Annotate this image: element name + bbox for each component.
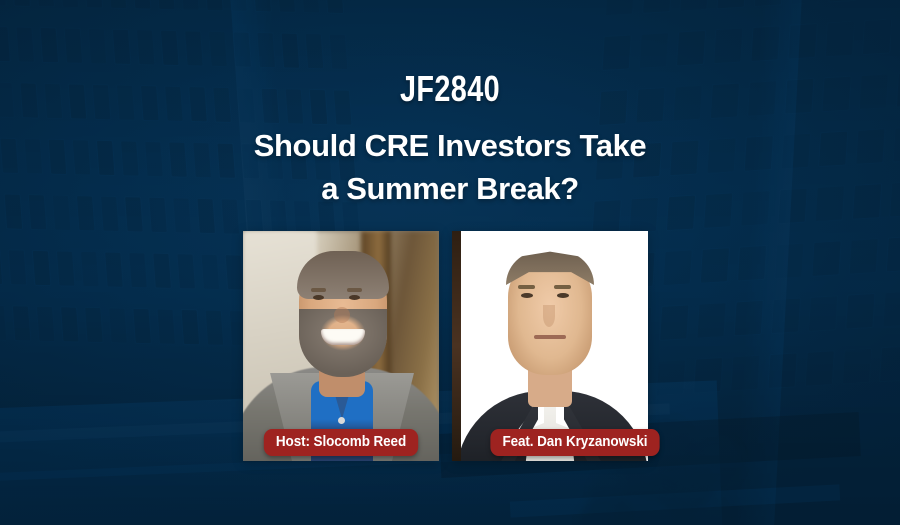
guest-eye-left	[521, 293, 533, 298]
host-name-badge: Host: Slocomb Reed	[264, 429, 418, 456]
host-hair	[297, 251, 389, 299]
host-eye-right	[349, 295, 360, 300]
episode-title-line-2: a Summer Break?	[0, 167, 900, 210]
guest-eye-right	[557, 293, 569, 298]
podcast-episode-cover: JF2840 Should CRE Investors Take a Summe…	[0, 0, 900, 525]
host-nose	[334, 307, 350, 323]
guest-photo-left-edge	[452, 231, 461, 461]
host-smile	[321, 329, 365, 345]
host-eyebrow-left	[311, 288, 326, 292]
host-polo-button	[338, 417, 345, 424]
guest-mouth	[534, 335, 566, 339]
episode-title-line-1: Should CRE Investors Take	[0, 124, 900, 167]
title-block: JF2840 Should CRE Investors Take a Summe…	[0, 70, 900, 211]
guest-eyebrow-right	[554, 285, 571, 289]
host-eye-left	[313, 295, 324, 300]
guest-eyebrow-left	[518, 285, 535, 289]
episode-title: Should CRE Investors Take a Summer Break…	[0, 124, 900, 211]
guest-nose	[543, 305, 555, 327]
episode-id: JF2840	[90, 70, 810, 108]
host-eyebrow-right	[347, 288, 362, 292]
guest-photo	[452, 231, 648, 461]
guest-name-badge: Feat. Dan Kryzanowski	[490, 429, 659, 456]
host-photo	[243, 231, 439, 461]
